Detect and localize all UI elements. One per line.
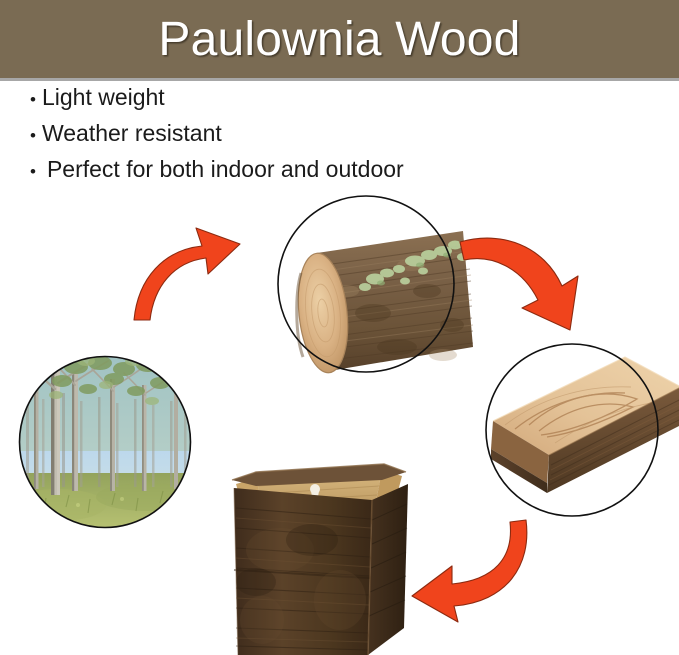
list-item-label: Weather resistant (42, 122, 222, 145)
list-item: • Light weight (30, 86, 590, 109)
header-divider (0, 78, 679, 81)
bullet-icon: • (30, 163, 36, 180)
stage-trees (18, 355, 192, 529)
bullet-icon: • (30, 127, 36, 144)
infographic-canvas: Paulownia Wood • Light weight • Weather … (0, 0, 679, 655)
finished-wooden-box-image (222, 450, 417, 655)
list-item: • Weather resistant (30, 122, 590, 145)
list-item-label: Perfect for both indoor and outdoor (47, 158, 404, 181)
paulownia-tree-plantation-image (18, 355, 192, 529)
list-item: • Perfect for both indoor and outdoor (30, 158, 590, 181)
arrow-down-right-icon (458, 232, 592, 344)
arrow-up-right-icon (128, 216, 260, 324)
arrow-trees-to-log (128, 216, 260, 324)
feature-list: • Light weight • Weather resistant • Per… (30, 86, 590, 194)
page-title: Paulownia Wood (158, 16, 520, 64)
arrow-left-icon (406, 518, 544, 626)
stage-box (222, 450, 417, 655)
harvested-log-image (277, 195, 477, 385)
header-band: Paulownia Wood (0, 0, 679, 78)
stage-lumber (485, 343, 679, 533)
arrow-log-to-lumber (458, 232, 592, 344)
list-item-label: Light weight (42, 86, 165, 109)
bullet-icon: • (30, 91, 36, 108)
arrow-lumber-to-box (406, 518, 544, 626)
stage-log (277, 195, 477, 385)
sawn-lumber-image (485, 343, 679, 533)
